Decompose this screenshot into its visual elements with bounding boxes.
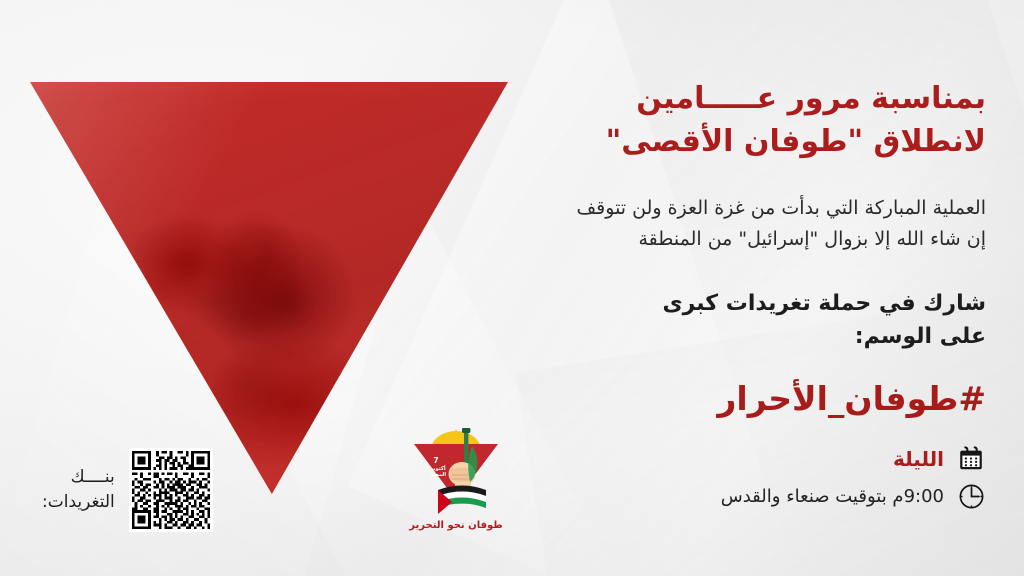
schedule-time-label: 9:00م بتوقيت صنعاء والقدس [721, 486, 944, 507]
body-line-1: العملية المباركة التي بدأت من غزة العزة … [577, 197, 987, 219]
campaign-hashtag[interactable]: #طوفان_الأحرار [406, 379, 986, 419]
clock-icon [956, 481, 986, 511]
campaign-logo-block: 7 أكتوبر المجيد [398, 422, 514, 531]
poster-canvas: بمناسبة مرور عـــــامين لانطلاق "طوفان ا… [0, 0, 1024, 576]
cta-line-1: شارك في حملة تغريدات كبرى [662, 291, 986, 316]
headline-line-1: بمناسبة مرور عـــــامين [636, 81, 986, 116]
svg-text:7: 7 [433, 456, 438, 465]
schedule-date-label: الليلة [893, 447, 944, 471]
tweet-bank-label-line-1: بنــــك [71, 467, 115, 487]
headline-line-2: لانطلاق "طوفان الأقصى" [406, 121, 986, 164]
body-line-2: إن شاء الله إلا بزوال "إسرائيل" من المنط… [406, 224, 986, 255]
cta-line-2: على الوسم: [406, 320, 986, 353]
tweet-bank-label: بنــــك التغريدات: [42, 465, 115, 516]
campaign-logo-icon: 7 أكتوبر المجيد [398, 422, 514, 518]
tweet-bank-label-line-2: التغريدات: [42, 490, 115, 516]
calendar-icon [956, 444, 986, 474]
svg-text:المجيد: المجيد [430, 472, 446, 478]
body-copy: العملية المباركة التي بدأت من غزة العزة … [406, 193, 986, 255]
call-to-action: شارك في حملة تغريدات كبرى على الوسم: [406, 287, 986, 353]
campaign-logo-caption: طوفان نحو التحرير [398, 520, 514, 531]
tweet-bank-block[interactable]: بنــــك التغريدات: [42, 448, 213, 532]
headline: بمناسبة مرور عـــــامين لانطلاق "طوفان ا… [406, 78, 986, 163]
svg-text:أكتوبر: أكتوبر [429, 465, 446, 472]
qr-code-icon[interactable] [129, 448, 213, 532]
